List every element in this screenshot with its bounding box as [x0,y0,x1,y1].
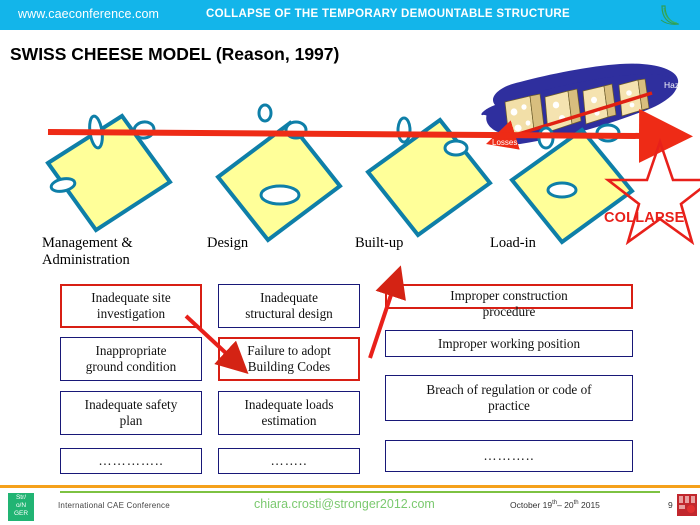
footer-date-start: October 19 [510,500,552,510]
cheese-slice-2 [218,123,340,240]
cause-box-failure-to-adopt-building-codes[interactable]: Failure to adopt Building Codes [218,337,360,381]
cause-box-column2-ellipsis[interactable]: …….. [218,448,360,474]
cae-conference-leaf-icon [658,2,684,28]
cause-box-inadequate-loads-estimation[interactable]: Inadequate loads estimation [218,391,360,435]
slice-label-management: Management & Administration [42,235,133,269]
footer-conference-name: International CAE Conference [58,501,170,510]
cause-box-column3-ellipsis[interactable]: ……….. [385,440,633,472]
cause-box-improper-working-position[interactable]: Improper working position [385,330,633,357]
slice-label-built-up: Built-up [355,235,403,252]
inset-losses-label: Losses [492,138,517,147]
cause-box-inadequate-site-investigation[interactable]: Inadequate site investigation [60,284,202,328]
cause-box-inadequate-safety-plan[interactable]: Inadequate safety plan [60,391,202,435]
stronger2012-logo: Str/ o/N GER [8,493,34,521]
slide-footer: Str/ o/N GER International CAE Conferenc… [0,493,700,525]
red-square-logo [676,493,698,519]
cause-box-column1-ellipsis[interactable]: ………….. [60,448,202,474]
footer-rule-orange [0,485,700,488]
footer-date-end: 2015 [579,500,600,510]
slice-label-load-in: Load-in [490,235,536,252]
cause-box-improper-construction-procedure[interactable]: Improper construction procedure [385,284,633,309]
footer-date: October 19th– 20th 2015 [510,500,600,510]
collapse-star-icon [608,142,700,242]
logo-line-2: o/N [8,502,34,510]
header-presentation-title: COLLAPSE OF THE TEMPORARY DEMOUNTABLE ST… [206,8,570,20]
footer-email-link[interactable]: chiara.crosti@stronger2012.com [254,497,435,511]
logo-line-3: GER [8,510,34,518]
slice-label-design: Design [207,235,248,252]
collapse-label: COLLAPSE [604,210,685,226]
logo-line-1: Str/ [8,494,34,502]
cause-box-inadequate-structural-design[interactable]: Inadequate structural design [218,284,360,328]
header-website-url: www.caeconference.com [18,7,159,21]
presentation-slide: www.caeconference.com COLLAPSE OF THE TE… [0,0,700,525]
swiss-cheese-diagram: Hazards Losses [0,60,700,245]
slide-header: www.caeconference.com COLLAPSE OF THE TE… [0,0,700,30]
cause-box-inappropriate-ground-condition[interactable]: Inappropriate ground condition [60,337,202,381]
cause-box-breach-of-regulation[interactable]: Breach of regulation or code of practice [385,375,633,421]
footer-date-mid: – 20 [557,500,574,510]
footer-page-number: 9 [668,500,673,510]
penetration-arrow [48,132,645,136]
inset-hazards-label: Hazards [664,80,696,90]
